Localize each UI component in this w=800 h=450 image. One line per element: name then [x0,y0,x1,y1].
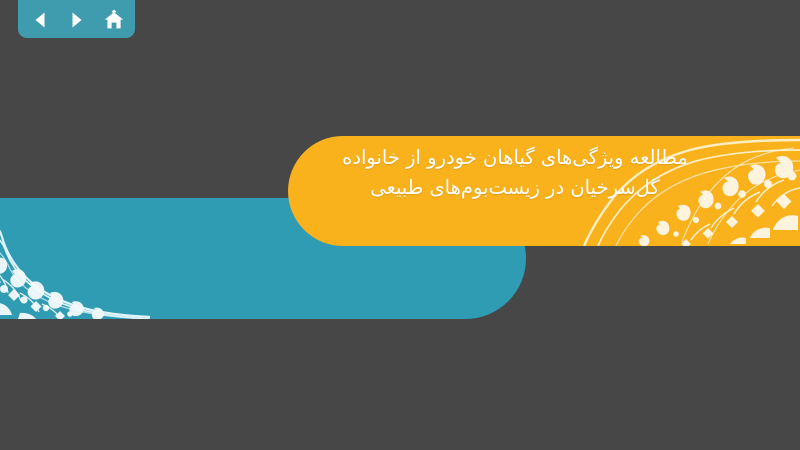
home-button[interactable] [100,7,128,33]
home-icon [103,9,125,31]
slide-title-line-2: گل‌سرخیان در زیست‌بوم‌های طبیعی [300,173,730,203]
forward-icon [67,10,87,30]
back-icon [30,10,50,30]
presentation-slide: مطالعه ویژگی‌های گیاهان خودرو از خانواده… [0,0,800,450]
slide-title: مطالعه ویژگی‌های گیاهان خودرو از خانواده… [300,143,730,203]
forward-button[interactable] [63,7,91,33]
slide-title-line-1: مطالعه ویژگی‌های گیاهان خودرو از خانواده [300,143,730,173]
teal-arabesque-ornament [0,207,150,319]
back-button[interactable] [26,7,54,33]
navigation-bar [18,0,135,38]
